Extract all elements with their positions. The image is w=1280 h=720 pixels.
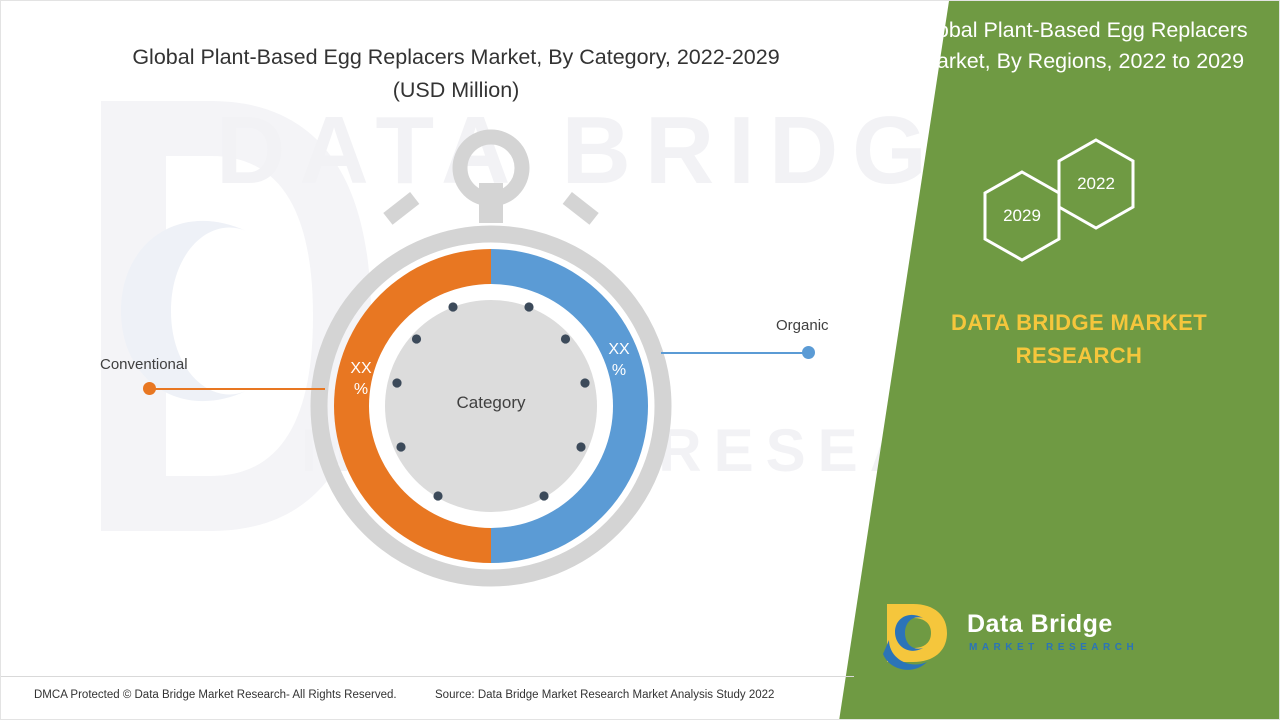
brand-text-line-2: RESEARCH: [894, 339, 1264, 372]
dbmr-logo: Data Bridge MARKET RESEARCH: [869, 596, 1119, 681]
hexagon-group: 2022 2029: [979, 136, 1179, 266]
donut-chart: Category XX % XX %: [301, 121, 681, 591]
donut-chart-graphic: [301, 121, 681, 591]
regions-panel-title: Global Plant-Based Egg Replacers Market,…: [899, 15, 1264, 77]
brand-text-line-1: DATA BRIDGE MARKET: [894, 306, 1264, 339]
chart-title: Global Plant-Based Egg Replacers Market,…: [91, 41, 821, 107]
chart-title-line-1: Global Plant-Based Egg Replacers Market,…: [91, 41, 821, 74]
legend-label-organic: Organic: [776, 317, 829, 334]
footer: DMCA Protected © Data Bridge Market Rese…: [1, 676, 854, 719]
hexagon-2029-label: 2029: [979, 206, 1065, 226]
dbmr-logo-subtitle: MARKET RESEARCH: [969, 642, 1138, 653]
brand-text: DATA BRIDGE MARKET RESEARCH: [894, 306, 1264, 372]
chart-title-line-2: (USD Million): [91, 74, 821, 107]
dbmr-logo-name: Data Bridge: [967, 610, 1113, 639]
legend-label-conventional: Conventional: [100, 356, 188, 373]
hexagon-2022: 2022: [1053, 136, 1139, 232]
hexagon-2022-label: 2022: [1053, 174, 1139, 194]
leader-line-organic: [661, 352, 809, 354]
leader-line-conventional: [150, 388, 325, 390]
regions-panel: Global Plant-Based Egg Replacers Market,…: [839, 1, 1279, 720]
footer-source: Source: Data Bridge Market Research Mark…: [435, 689, 774, 701]
infographic-page: DATA BRIDGE MARKET RESEARCH Global Plant…: [0, 0, 1280, 720]
footer-copyright: DMCA Protected © Data Bridge Market Rese…: [34, 689, 397, 701]
hexagon-2029: 2029: [979, 168, 1065, 264]
